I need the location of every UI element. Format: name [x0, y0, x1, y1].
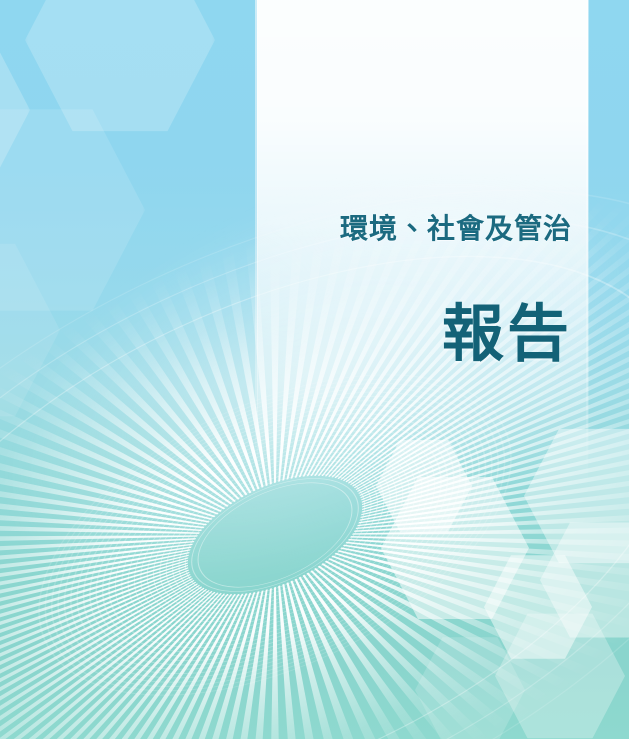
cover-main-title: 報告	[442, 300, 572, 368]
cover-title-block: 環境、社會及管治 報告	[0, 0, 629, 739]
report-cover-page: 環境、社會及管治 報告	[0, 0, 629, 739]
cover-subtitle: 環境、社會及管治	[340, 207, 572, 247]
